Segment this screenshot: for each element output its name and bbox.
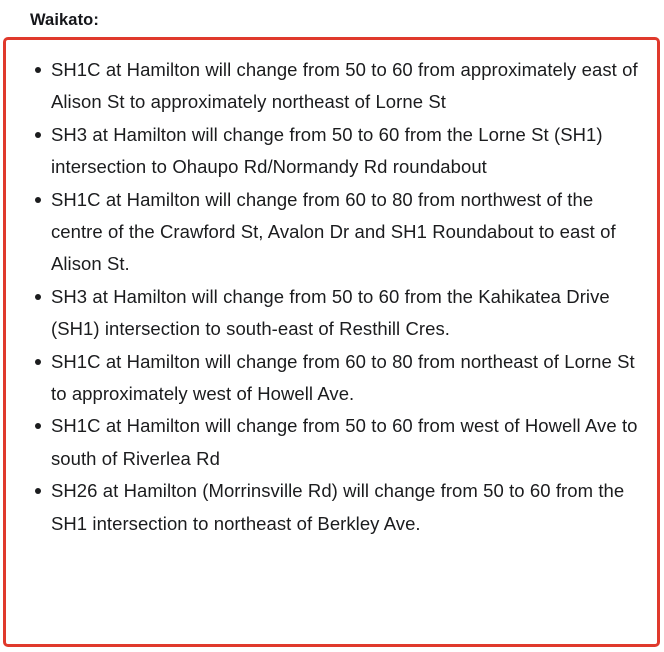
page-root: Waikato: SH1C at Hamilton will change fr… — [0, 0, 664, 652]
list-item: SH1C at Hamilton will change from 50 to … — [6, 410, 647, 475]
bullet-icon — [35, 197, 41, 203]
list-item-label: SH26 at Hamilton (Morrinsville Rd) will … — [51, 475, 647, 540]
bullet-icon — [35, 294, 41, 300]
bullet-icon — [35, 359, 41, 365]
list-item-label: SH3 at Hamilton will change from 50 to 6… — [51, 119, 647, 184]
list-item: SH3 at Hamilton will change from 50 to 6… — [6, 119, 647, 184]
list-item-label: SH1C at Hamilton will change from 60 to … — [51, 184, 647, 281]
list-item-label: SH3 at Hamilton will change from 50 to 6… — [51, 281, 647, 346]
list-item-label: SH1C at Hamilton will change from 50 to … — [51, 54, 647, 119]
list-item: SH1C at Hamilton will change from 60 to … — [6, 346, 647, 411]
bullet-icon — [35, 67, 41, 73]
highlighted-callout-box: SH1C at Hamilton will change from 50 to … — [3, 37, 660, 647]
list-item: SH26 at Hamilton (Morrinsville Rd) will … — [6, 475, 647, 540]
list-item-label: SH1C at Hamilton will change from 60 to … — [51, 346, 647, 411]
list-item: SH1C at Hamilton will change from 50 to … — [6, 54, 647, 119]
list-item-label: SH1C at Hamilton will change from 50 to … — [51, 410, 647, 475]
speed-limit-change-list: SH1C at Hamilton will change from 50 to … — [6, 40, 657, 550]
bullet-icon — [35, 132, 41, 138]
bullet-icon — [35, 488, 41, 494]
page-title: Waikato: — [30, 9, 99, 31]
bullet-icon — [35, 423, 41, 429]
list-item: SH1C at Hamilton will change from 60 to … — [6, 184, 647, 281]
list-item: SH3 at Hamilton will change from 50 to 6… — [6, 281, 647, 346]
